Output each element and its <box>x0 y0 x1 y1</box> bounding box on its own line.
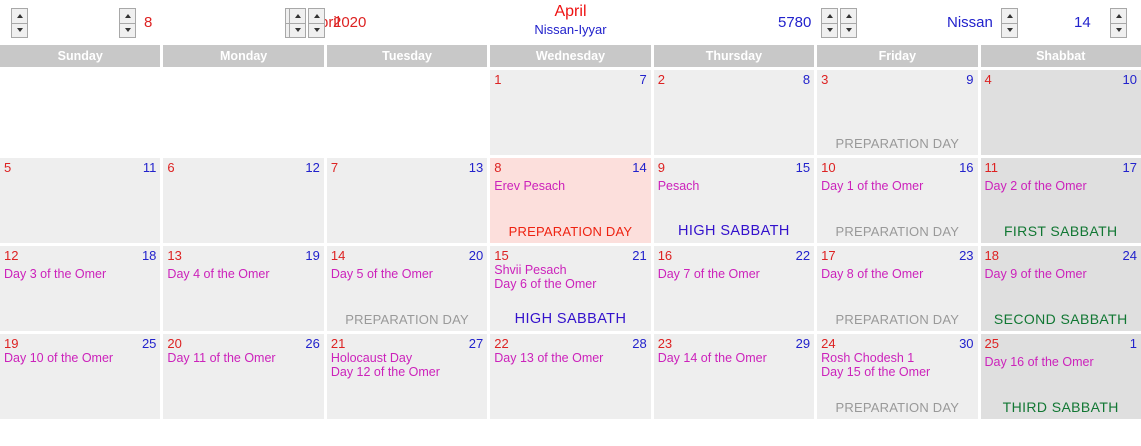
day-status-badge: PREPARATION DAY <box>817 312 977 327</box>
day-number-row: 1117 <box>985 160 1137 175</box>
hebrew-day-number: 28 <box>632 336 646 351</box>
gregorian-day-number: 3 <box>821 72 828 87</box>
hebrew-day-number: 7 <box>639 72 646 87</box>
hebrew-day-number: 8 <box>803 72 810 87</box>
hebrew-day-number: 16 <box>959 160 973 175</box>
spinner-up-icon[interactable] <box>11 8 28 23</box>
hebrew-day-number: 18 <box>142 248 156 263</box>
day-number-row: 2228 <box>494 336 646 351</box>
event-label: Day 16 of the Omer <box>985 356 1137 370</box>
day-status-badge: PREPARATION DAY <box>817 224 977 239</box>
day-number-row: 17 <box>494 72 646 87</box>
calendar-grid: SundayMondayTuesdayWednesdayThursdayFrid… <box>0 45 1141 422</box>
hebrew-day-spinner[interactable] <box>1110 8 1127 38</box>
day-events: Day 14 of the Omer <box>658 352 810 366</box>
calendar-day-cell[interactable]: 2026Day 11 of the Omer <box>163 334 323 419</box>
spinner-down-icon[interactable] <box>1110 23 1127 38</box>
calendar-weeks: 172839PREPARATION DAY410511612713814Erev… <box>0 70 1141 422</box>
day-number-row: 612 <box>167 160 319 175</box>
event-label: Day 8 of the Omer <box>821 268 973 282</box>
event-label: Day 10 of the Omer <box>4 352 156 366</box>
event-label: Day 3 of the Omer <box>4 268 156 282</box>
calendar-day-cell[interactable]: 2127Holocaust DayDay 12 of the Omer <box>327 334 487 419</box>
event-label: Day 14 of the Omer <box>658 352 810 366</box>
day-events: Day 4 of the Omer <box>167 268 319 282</box>
day-number-row: 1622 <box>658 248 810 263</box>
calendar-day-cell[interactable]: 1622Day 7 of the Omer <box>654 246 814 331</box>
day-number-row: 2430 <box>821 336 973 351</box>
gregorian-day-number: 13 <box>167 248 181 263</box>
calendar-week-row: 511612713814Erev PesachPREPARATION DAY91… <box>0 158 1141 243</box>
day-events: Pesach <box>658 180 810 194</box>
gregorian-day-number: 25 <box>985 336 999 351</box>
spinner-down-icon[interactable] <box>308 23 325 38</box>
hebrew-year-value: 5780 <box>778 14 811 31</box>
day-number-row: 1723 <box>821 248 973 263</box>
day-number-row: 39 <box>821 72 973 87</box>
day-events: Day 9 of the Omer <box>985 268 1137 282</box>
day-number-row: 28 <box>658 72 810 87</box>
day-events: Erev Pesach <box>494 180 646 194</box>
hebrew-day-control[interactable] <box>1109 0 1128 45</box>
day-number-row: 713 <box>331 160 483 175</box>
hebrew-day-number: 15 <box>796 160 810 175</box>
day-number-row: 915 <box>658 160 810 175</box>
hebrew-day-number: 26 <box>305 336 319 351</box>
hebrew-day-number: 24 <box>1122 248 1136 263</box>
day-number-row: 1319 <box>167 248 319 263</box>
spinner-down-icon[interactable] <box>821 23 838 38</box>
hebrew-day-number: 10 <box>1122 72 1136 87</box>
spinner-down-icon[interactable] <box>289 23 306 38</box>
hebrew-year-control[interactable] <box>820 0 858 45</box>
calendar-day-cell[interactable]: 251Day 16 of the OmerTHIRD SABBATH <box>981 334 1141 419</box>
gregorian-day-number: 21 <box>331 336 345 351</box>
day-events: Day 13 of the Omer <box>494 352 646 366</box>
event-label: Day 13 of the Omer <box>494 352 646 366</box>
hebrew-day-number: 20 <box>469 248 483 263</box>
hebrew-day-number: 23 <box>959 248 973 263</box>
hebrew-year-spinner-2[interactable] <box>840 8 857 38</box>
event-label: Day 4 of the Omer <box>167 268 319 282</box>
hebrew-month-control[interactable] <box>1000 0 1019 45</box>
hebrew-day-number: 27 <box>469 336 483 351</box>
gregorian-day-number: 17 <box>821 248 835 263</box>
day-events: Day 8 of the Omer <box>821 268 973 282</box>
event-label: Day 15 of the Omer <box>821 366 973 380</box>
event-label: Rosh Chodesh 1 <box>821 352 973 366</box>
calendar-day-cell-empty <box>163 70 323 155</box>
calendar-week-row: 172839PREPARATION DAY410 <box>0 70 1141 155</box>
gregorian-day-number: 7 <box>331 160 338 175</box>
event-label: Erev Pesach <box>494 180 646 194</box>
hebrew-day-number: 19 <box>305 248 319 263</box>
calendar-day-cell[interactable]: 17 <box>490 70 650 155</box>
calendar-day-cell[interactable]: 1824Day 9 of the OmerSECOND SABBATH <box>981 246 1141 331</box>
day-events: Day 3 of the Omer <box>4 268 156 282</box>
gregorian-day-value: 8 <box>144 14 152 31</box>
hebrew-day-number: 25 <box>142 336 156 351</box>
day-number-row: 2329 <box>658 336 810 351</box>
day-events: Day 10 of the Omer <box>4 352 156 366</box>
calendar-day-cell[interactable]: 1723Day 8 of the OmerPREPARATION DAY <box>817 246 977 331</box>
day-number-row: 2127 <box>331 336 483 351</box>
hebrew-month-value-wrap: Nissan <box>947 0 1000 45</box>
navigation-bar: 8 April 5780 <box>0 0 1141 45</box>
gregorian-day-number: 16 <box>658 248 672 263</box>
gregorian-day-number: 11 <box>985 160 999 175</box>
gregorian-year-spinner-a[interactable] <box>289 8 306 38</box>
calendar-day-cell[interactable]: 511 <box>0 158 160 243</box>
gregorian-day-number: 24 <box>821 336 835 351</box>
event-label: Shvii Pesach <box>494 264 646 278</box>
gregorian-day-number: 14 <box>331 248 345 263</box>
day-status-badge: PREPARATION DAY <box>817 400 977 415</box>
day-events: Day 11 of the Omer <box>167 352 319 366</box>
day-number-row: 1218 <box>4 248 156 263</box>
day-number-row: 251 <box>985 336 1137 351</box>
calendar-week-row: 1218Day 3 of the Omer1319Day 4 of the Om… <box>0 246 1141 331</box>
day-number-row: 511 <box>4 160 156 175</box>
calendar-day-cell[interactable]: 1420Day 5 of the OmerPREPARATION DAY <box>327 246 487 331</box>
gregorian-day-number: 20 <box>167 336 181 351</box>
hebrew-day-number: 21 <box>632 248 646 263</box>
hebrew-day-number: 22 <box>796 248 810 263</box>
gregorian-day-number: 1 <box>494 72 501 87</box>
gregorian-day-number: 8 <box>494 160 501 175</box>
day-number-row: 814 <box>494 160 646 175</box>
hebrew-day-number: 12 <box>305 160 319 175</box>
weekday-header-tuesday: Tuesday <box>327 45 487 67</box>
spinner-up-icon[interactable] <box>289 8 306 23</box>
gregorian-year-spinner-b[interactable] <box>308 8 325 38</box>
calendar-day-cell[interactable]: 1218Day 3 of the Omer <box>0 246 160 331</box>
calendar-day-cell[interactable]: 1925Day 10 of the Omer <box>0 334 160 419</box>
gregorian-day-number: 23 <box>658 336 672 351</box>
day-events: Day 5 of the Omer <box>331 268 483 282</box>
day-status-badge: SECOND SABBATH <box>981 311 1141 327</box>
event-label: Day 7 of the Omer <box>658 268 810 282</box>
gregorian-day-spinner-alt[interactable] <box>11 8 28 38</box>
spinner-up-icon[interactable] <box>840 8 857 23</box>
gregorian-day-number: 4 <box>985 72 992 87</box>
day-number-row: 1016 <box>821 160 973 175</box>
spinner-up-icon[interactable] <box>119 8 136 23</box>
gregorian-day-number: 19 <box>4 336 18 351</box>
gregorian-day-number: 22 <box>494 336 508 351</box>
spinner-up-icon[interactable] <box>308 8 325 23</box>
day-events: Day 16 of the Omer <box>985 356 1137 370</box>
calendar-day-cell[interactable]: 2228Day 13 of the Omer <box>490 334 650 419</box>
hebrew-day-number: 14 <box>632 160 646 175</box>
day-status-badge: HIGH SABBATH <box>490 311 650 327</box>
spinner-up-icon[interactable] <box>821 8 838 23</box>
gregorian-year-value: 2020 <box>333 14 366 31</box>
day-events: Day 7 of the Omer <box>658 268 810 282</box>
hebrew-day-number: 30 <box>959 336 973 351</box>
calendar-day-cell[interactable]: 1016Day 1 of the OmerPREPARATION DAY <box>817 158 977 243</box>
gregorian-day-number: 12 <box>4 248 18 263</box>
hebrew-month-value: Nissan <box>947 14 993 31</box>
spinner-up-icon[interactable] <box>1110 8 1127 23</box>
weekday-header-friday: Friday <box>817 45 977 67</box>
day-number-row: 1925 <box>4 336 156 351</box>
hebrew-month-spinner[interactable] <box>1001 8 1018 38</box>
gregorian-day-number: 18 <box>985 248 999 263</box>
calendar-day-cell[interactable]: 612 <box>163 158 323 243</box>
spinner-down-icon[interactable] <box>840 23 857 38</box>
day-status-badge: PREPARATION DAY <box>817 136 977 151</box>
day-events: Shvii PesachDay 6 of the Omer <box>494 264 646 291</box>
hebrew-year-value-wrap: 5780 <box>778 0 818 45</box>
calendar-day-cell[interactable]: 1521Shvii PesachDay 6 of the OmerHIGH SA… <box>490 246 650 331</box>
calendar-day-cell[interactable]: 713 <box>327 158 487 243</box>
day-status-badge: HIGH SABBATH <box>654 223 814 239</box>
hebrew-day-number: 17 <box>1122 160 1136 175</box>
gregorian-day-number: 2 <box>658 72 665 87</box>
calendar-day-cell[interactable]: 28 <box>654 70 814 155</box>
gregorian-day-spinner[interactable] <box>119 8 136 38</box>
spinner-down-icon[interactable] <box>1001 23 1018 38</box>
day-number-row: 1521 <box>494 248 646 263</box>
event-label: Holocaust Day <box>331 352 483 366</box>
event-label: Day 9 of the Omer <box>985 268 1137 282</box>
event-label: Day 5 of the Omer <box>331 268 483 282</box>
gregorian-day-control[interactable]: 8 <box>118 0 152 45</box>
hebrew-day-value: 14 <box>1074 14 1091 31</box>
spinner-up-icon[interactable] <box>1001 8 1018 23</box>
day-number-row: 2026 <box>167 336 319 351</box>
calendar-day-cell[interactable]: 1319Day 4 of the Omer <box>163 246 323 331</box>
day-status-badge: FIRST SABBATH <box>981 223 1141 239</box>
day-status-badge: THIRD SABBATH <box>981 399 1141 415</box>
gregorian-day-number: 5 <box>4 160 11 175</box>
event-label: Day 12 of the Omer <box>331 366 483 380</box>
day-status-badge: PREPARATION DAY <box>490 224 650 239</box>
gregorian-day-number: 15 <box>494 248 508 263</box>
weekday-header-row: SundayMondayTuesdayWednesdayThursdayFrid… <box>0 45 1141 67</box>
weekday-header-monday: Monday <box>163 45 323 67</box>
gregorian-day-number: 10 <box>821 160 835 175</box>
calendar-day-cell-empty <box>327 70 487 155</box>
day-number-row: 410 <box>985 72 1137 87</box>
event-label: Day 6 of the Omer <box>494 278 646 292</box>
gregorian-day-spinner-group[interactable] <box>10 0 29 45</box>
spinner-down-icon[interactable] <box>11 23 28 38</box>
day-events: Rosh Chodesh 1Day 15 of the Omer <box>821 352 973 379</box>
day-events: Holocaust DayDay 12 of the Omer <box>331 352 483 379</box>
event-label: Pesach <box>658 180 810 194</box>
hebrew-day-number: 29 <box>796 336 810 351</box>
calendar-day-cell[interactable]: 814Erev PesachPREPARATION DAY <box>490 158 650 243</box>
calendar-day-cell-empty <box>0 70 160 155</box>
gregorian-year-spinners[interactable]: 2020 <box>288 0 366 45</box>
day-number-row: 1420 <box>331 248 483 263</box>
calendar-day-cell[interactable]: 2329Day 14 of the Omer <box>654 334 814 419</box>
calendar-week-row: 1925Day 10 of the Omer2026Day 11 of the … <box>0 334 1141 419</box>
calendar-day-cell[interactable]: 2430Rosh Chodesh 1Day 15 of the OmerPREP… <box>817 334 977 419</box>
calendar-day-cell[interactable]: 915PesachHIGH SABBATH <box>654 158 814 243</box>
weekday-header-shabbat: Shabbat <box>981 45 1141 67</box>
event-label: Day 2 of the Omer <box>985 180 1137 194</box>
event-label: Day 11 of the Omer <box>167 352 319 366</box>
calendar-day-cell[interactable]: 39PREPARATION DAY <box>817 70 977 155</box>
day-status-badge: PREPARATION DAY <box>327 312 487 327</box>
hebrew-day-number: 9 <box>966 72 973 87</box>
day-events: Day 2 of the Omer <box>985 180 1137 194</box>
day-events: Day 1 of the Omer <box>821 180 973 194</box>
gregorian-day-number: 9 <box>658 160 665 175</box>
hebrew-day-value-wrap: 14 <box>1074 0 1098 45</box>
event-label: Day 1 of the Omer <box>821 180 973 194</box>
weekday-header-wednesday: Wednesday <box>490 45 650 67</box>
hebrew-year-spinner-1[interactable] <box>821 8 838 38</box>
hebrew-day-number: 11 <box>143 160 157 175</box>
weekday-header-sunday: Sunday <box>0 45 160 67</box>
calendar-day-cell[interactable]: 410 <box>981 70 1141 155</box>
weekday-header-thursday: Thursday <box>654 45 814 67</box>
hebrew-day-number: 1 <box>1130 336 1137 351</box>
gregorian-day-number: 6 <box>167 160 174 175</box>
day-number-row: 1824 <box>985 248 1137 263</box>
calendar-day-cell[interactable]: 1117Day 2 of the OmerFIRST SABBATH <box>981 158 1141 243</box>
spinner-down-icon[interactable] <box>119 23 136 38</box>
hebrew-day-number: 13 <box>469 160 483 175</box>
